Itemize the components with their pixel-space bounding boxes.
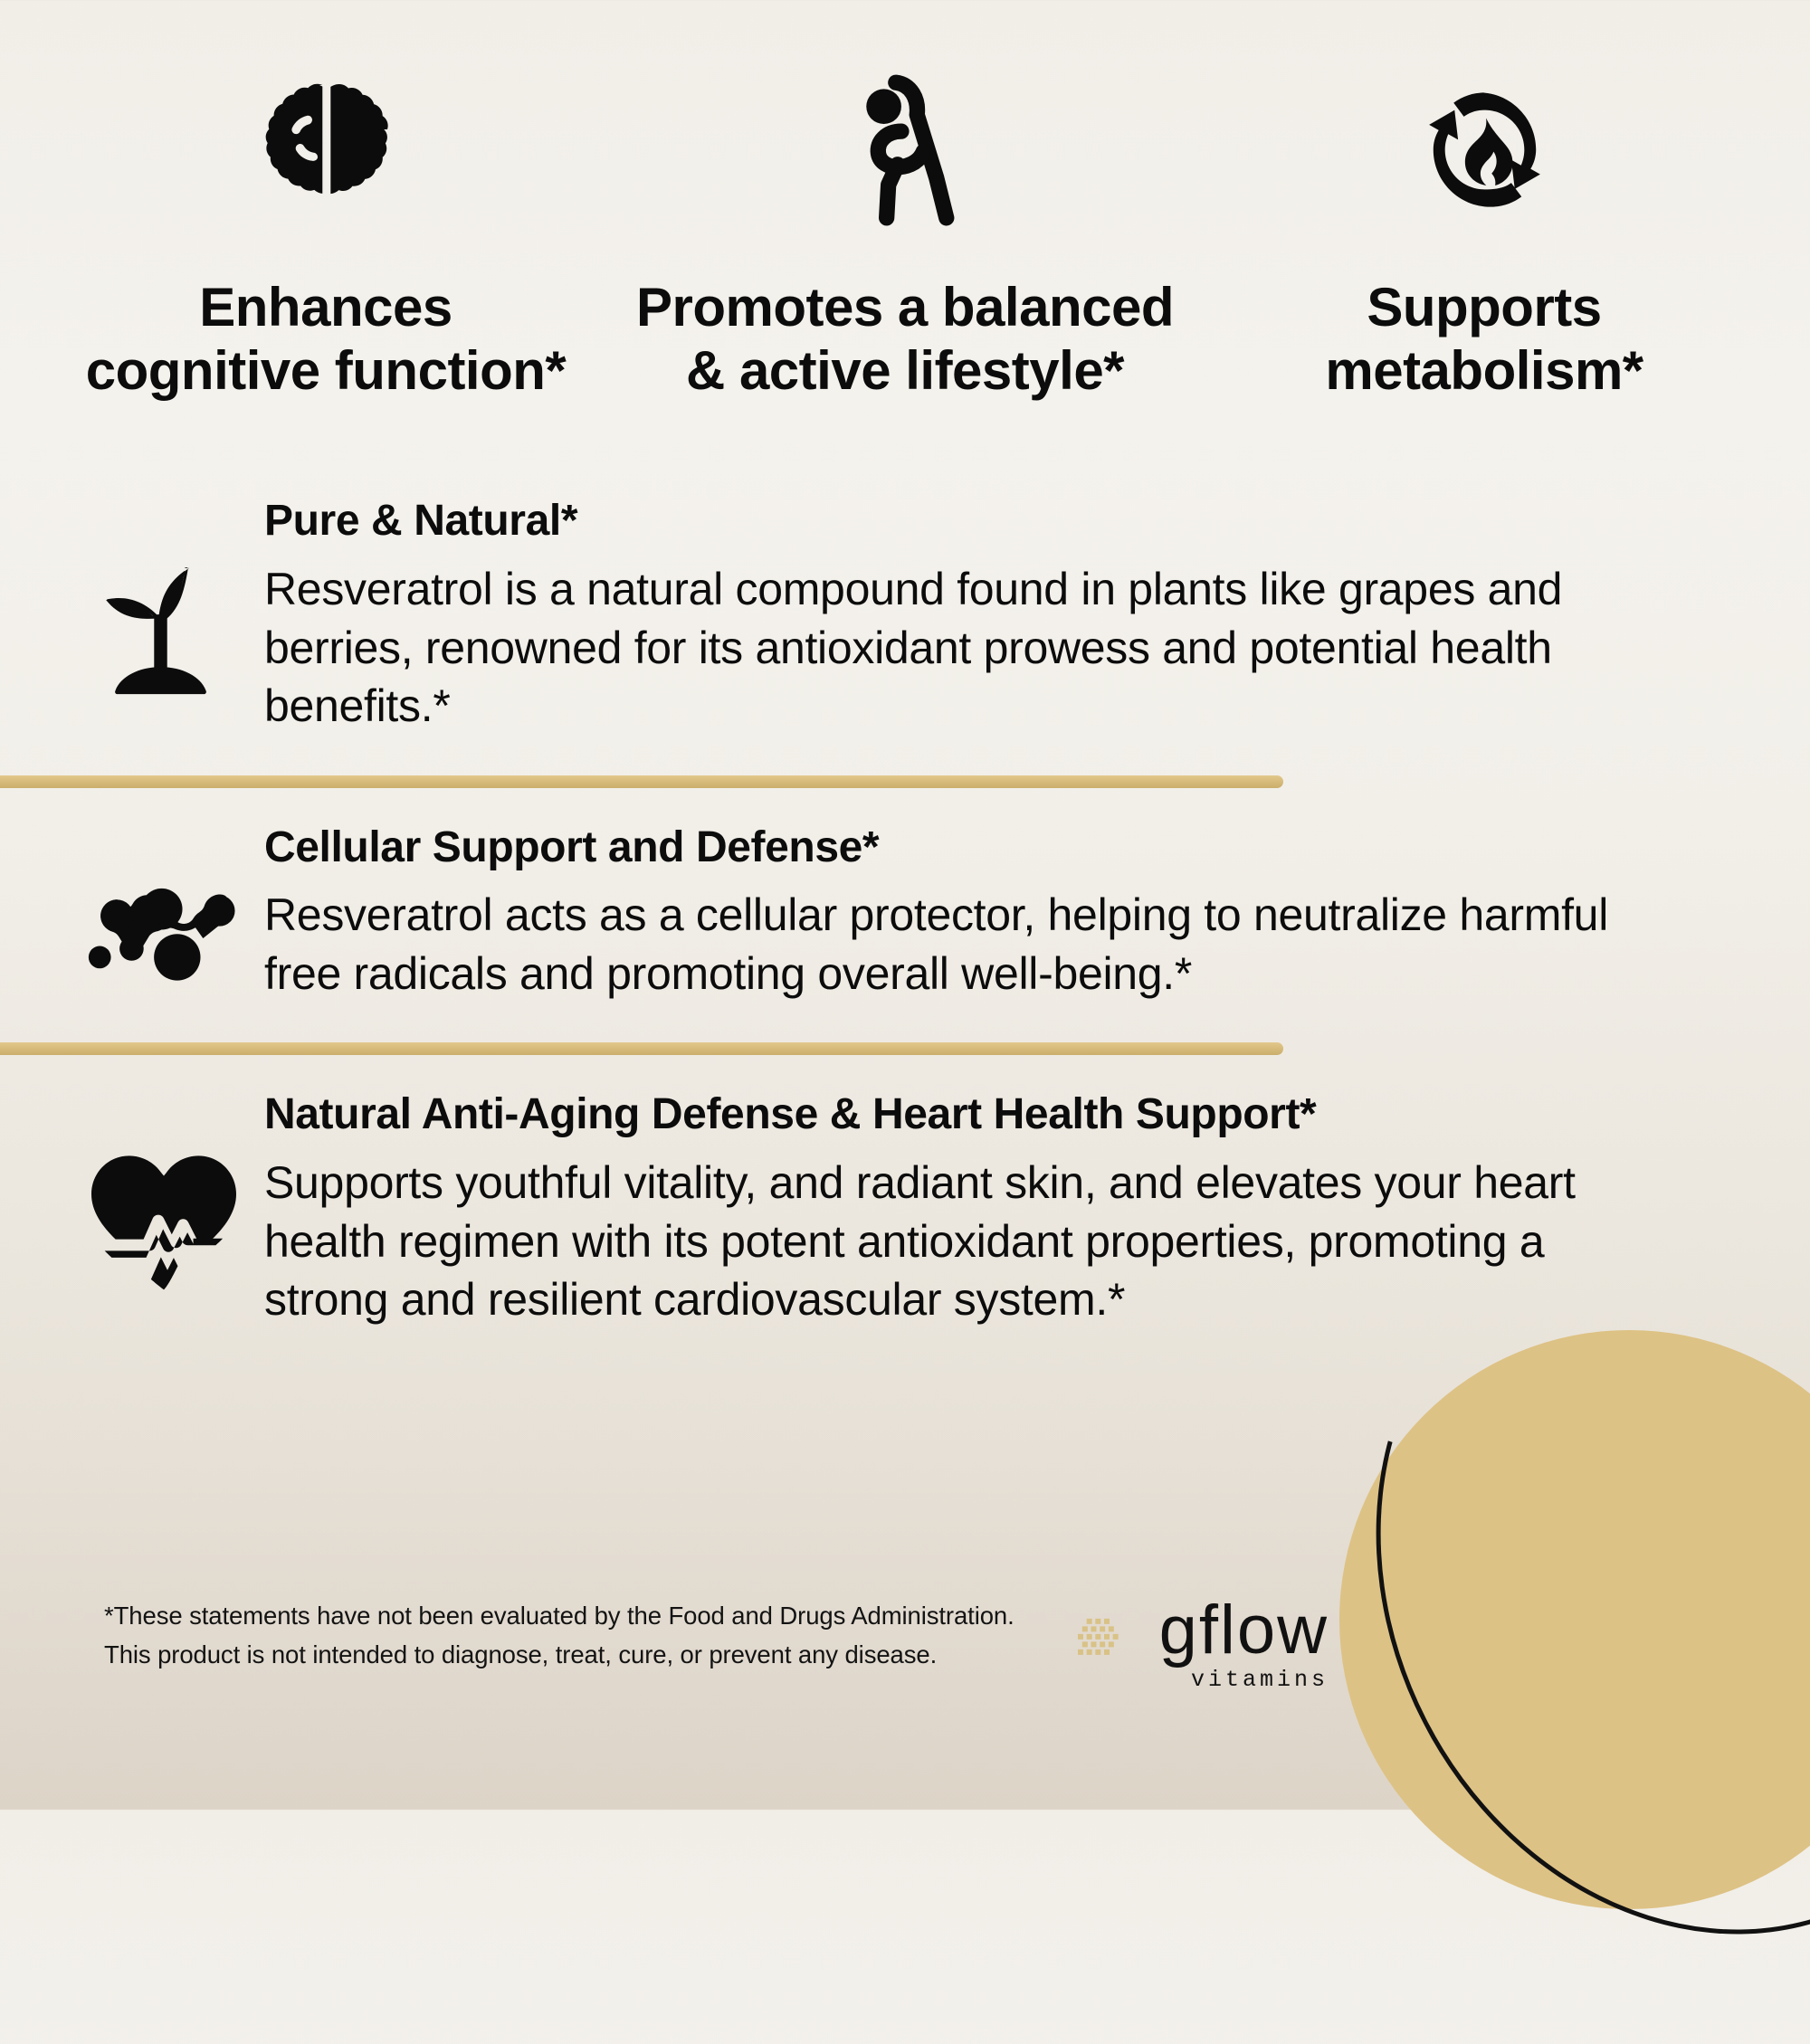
feature-caption-lifestyle: Promotes a balanced & active lifestyle* xyxy=(636,276,1174,403)
gold-divider-2 xyxy=(0,1042,1283,1055)
feature-caption-cognitive: Enhances cognitive function* xyxy=(86,276,567,403)
top-feature-row: Enhances cognitive function* Promotes a … xyxy=(0,0,1810,403)
benefit-title-pure-natural: Pure & Natural* xyxy=(264,498,1756,546)
benefit-body-cellular-support: Resveratrol acts as a cellular protector… xyxy=(264,886,1658,1003)
benefit-row-cellular-support: Cellular Support and Defense* Resveratro… xyxy=(0,824,1810,1003)
benefit-row-pure-natural: Pure & Natural* Resveratrol is a natural… xyxy=(0,498,1810,735)
feature-column-lifestyle: Promotes a balanced & active lifestyle* xyxy=(615,63,1195,403)
benefit-title-heart-health: Natural Anti-Aging Defense & Heart Healt… xyxy=(264,1091,1756,1139)
metabolism-flame-recycle-icon xyxy=(1410,63,1559,235)
fda-disclaimer: *These statements have not been evaluate… xyxy=(104,1597,1015,1674)
feature-column-metabolism: Supports metabolism* xyxy=(1195,63,1774,403)
stretching-person-icon xyxy=(833,63,977,235)
logo-tagline: vitamins xyxy=(1191,1667,1329,1693)
sprout-plant-icon xyxy=(86,498,253,707)
infographic-page: Enhances cognitive function* Promotes a … xyxy=(0,0,1810,1810)
brain-icon xyxy=(249,63,403,235)
gold-divider-1 xyxy=(0,775,1283,788)
benefit-title-cellular-support: Cellular Support and Defense* xyxy=(264,824,1756,872)
gold-dotted-diamond-icon xyxy=(1069,1601,1139,1672)
heart-pulse-icon xyxy=(86,1091,253,1296)
benefit-body-heart-health: Supports youthful vitality, and radiant … xyxy=(264,1154,1658,1329)
footer: *These statements have not been evaluate… xyxy=(0,1543,1810,1810)
benefit-text-cellular-support: Cellular Support and Defense* Resveratro… xyxy=(253,824,1756,1003)
molecule-cells-icon xyxy=(86,824,253,993)
feature-column-cognitive: Enhances cognitive function* xyxy=(36,63,615,403)
benefit-body-pure-natural: Resveratrol is a natural compound found … xyxy=(264,560,1658,736)
logo-brand-name: gflow xyxy=(1159,1601,1329,1661)
brand-logo: gflow vitamins xyxy=(1069,1597,1329,1693)
benefit-text-heart-health: Natural Anti-Aging Defense & Heart Healt… xyxy=(253,1091,1756,1328)
benefits-section: Pure & Natural* Resveratrol is a natural… xyxy=(0,498,1810,1328)
feature-caption-metabolism: Supports metabolism* xyxy=(1325,276,1643,403)
benefit-row-heart-health: Natural Anti-Aging Defense & Heart Healt… xyxy=(0,1091,1810,1328)
benefit-text-pure-natural: Pure & Natural* Resveratrol is a natural… xyxy=(253,498,1756,735)
logo-text: gflow vitamins xyxy=(1159,1601,1329,1693)
